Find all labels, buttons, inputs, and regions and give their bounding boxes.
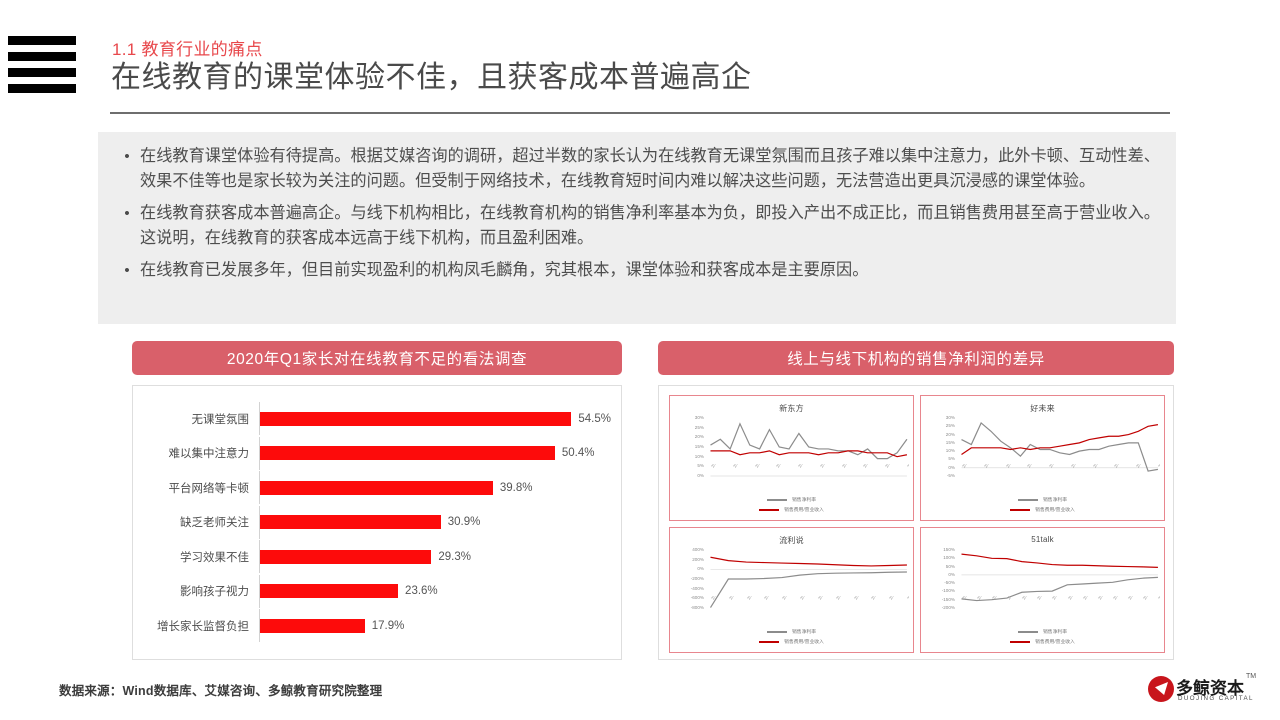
x-axis-tick-label: 2018-03-31 [1082,596,1096,600]
bar-value-label: 29.3% [438,551,471,563]
x-axis-tick-label: 2014-11-30 [710,464,724,468]
legend-item: 销售费用/营业收入 [1010,506,1075,513]
horizontal-bar-chart: 无课堂氛围54.5%难以集中注意力50.4%平台网络等卡顿39.8%缺乏老师关注… [133,386,621,659]
bullet-marker: • [114,201,140,251]
bar-value-label: 39.8% [500,482,533,494]
left-panel-title: 2020年Q1家长对在线教育不足的看法调查 [132,341,622,375]
bar-track: 23.6% [259,575,611,608]
bar-value-label: 30.9% [448,516,481,528]
x-axis-tick-label: 2015-11-30 [1005,464,1019,468]
bar-row: 学习效果不佳29.3% [147,540,611,573]
mini-line-chart-4: 51talk150%100%50%0%-50%-100%-150%-200%20… [920,527,1165,653]
x-axis-tick-label: 2018-06-30 [817,596,831,600]
x-axis-tick-label: 2019-05-31 [906,464,909,468]
bar-row: 平台网络等卡顿39.8% [147,471,611,504]
x-axis-labels: 2014-11-302015-05-312015-11-302016-05-31… [710,464,909,498]
legend-line-icon [1018,631,1038,633]
x-axis-tick-label: 2017-12-31 [1067,596,1081,600]
mini-chart-title: 51talk [921,535,1164,544]
chart-legend: 销售净利率销售费用/营业收入 [670,496,913,513]
mini-line-chart-1: 新东方30%25%20%15%10%5%0%2014-11-302015-05-… [669,395,914,521]
bar-track: 50.4% [259,437,611,470]
x-axis-labels: 2014-11-302015-05-312015-11-302016-05-31… [961,464,1160,498]
trademark-icon: TM [1246,673,1256,680]
line-series [711,451,907,457]
x-axis-tick-label: 2016-03-31 [961,596,975,600]
x-axis-tick-label: 2018-06-30 [1097,596,1111,600]
x-axis-tick-label: 2019-05-31 [1157,464,1160,468]
x-axis-tick-label: 2017-06-30 [746,596,760,600]
slide-header: 1.1 教育行业的痛点 在线教育的课堂体验不佳，且获客成本普遍高企 [0,0,1280,120]
x-axis-tick-label: 2016-05-31 [1026,464,1040,468]
bullet-item: • 在线教育已发展多年，但目前实现盈利的机构凤毛麟角，究其根本，课堂体验和获客成… [114,258,1160,283]
x-axis-tick-label: 2018-03-31 [799,596,813,600]
bar-category-label: 影响孩子视力 [147,583,259,599]
x-axis-tick-label: 2017-06-30 [1036,596,1050,600]
x-axis-tick-label: 2019-06-30 [1157,596,1160,600]
deco-bar [8,52,76,61]
bar-rows: 无课堂氛围54.5%难以集中注意力50.4%平台网络等卡顿39.8%缺乏老师关注… [147,402,611,647]
x-axis-tick-label: 2019-06-30 [888,596,902,600]
x-axis-tick-label: 2017-09-30 [1051,596,1065,600]
deco-bar [8,36,76,45]
legend-item: 销售费用/营业收入 [759,638,824,645]
line-series [962,425,1158,455]
x-axis-tick-label: 2015-11-30 [754,464,768,468]
bar-track: 39.8% [259,471,611,504]
legend-label: 销售净利率 [1043,628,1067,635]
x-axis-tick-label: 2015-05-31 [983,464,997,468]
x-axis-tick-label: 2018-09-30 [835,596,849,600]
x-axis-tick-label: 2015-05-31 [732,464,746,468]
bar-fill [260,481,493,495]
x-axis-tick-label: 2017-11-30 [1092,464,1106,468]
legend-item: 销售净利率 [1018,496,1067,503]
legend-line-icon [759,509,779,511]
legend-label: 销售费用/营业收入 [1035,506,1075,513]
whale-mark-icon [1148,676,1174,702]
bar-row: 难以集中注意力50.4% [147,437,611,470]
x-axis-tick-label: 2017-09-30 [763,596,777,600]
chart-legend: 销售净利率销售费用/营业收入 [921,496,1164,513]
bar-fill [260,584,398,598]
legend-line-icon [759,641,779,643]
bar-category-label: 平台网络等卡顿 [147,480,259,496]
bullet-item: • 在线教育课堂体验有待提高。根据艾媒咨询的调研，超过半数的家长认为在线教育无课… [114,144,1160,194]
legend-line-icon [767,499,787,501]
bar-row: 增长家长监督负担17.9% [147,609,611,642]
line-series [711,557,907,566]
bar-fill [260,412,571,426]
x-axis-tick-label: 2017-11-30 [841,464,855,468]
mini-chart-grid: 新东方30%25%20%15%10%5%0%2014-11-302015-05-… [669,395,1165,653]
legend-line-icon [1010,509,1030,511]
summary-text-block: • 在线教育课堂体验有待提高。根据艾媒咨询的调研，超过半数的家长认为在线教育无课… [98,132,1176,324]
x-axis-labels: 2016-03-312016-06-302016-09-302016-12-31… [961,596,1160,630]
legend-item: 销售费用/营业收入 [1010,638,1075,645]
header-divider [110,112,1170,114]
bar-category-label: 增长家长监督负担 [147,618,259,634]
bar-category-label: 学习效果不佳 [147,549,259,565]
x-axis-tick-label: 2017-03-31 [728,596,742,600]
legend-label: 销售费用/营业收入 [784,638,824,645]
bar-track: 29.3% [259,540,611,573]
bar-track: 54.5% [259,402,611,435]
bar-fill [260,446,555,460]
x-axis-tick-label: 2018-12-31 [1127,596,1141,600]
bar-fill [260,619,365,633]
bar-value-label: 50.4% [562,447,595,459]
x-axis-tick-label: 2018-05-31 [1113,464,1127,468]
legend-item: 销售净利率 [767,628,816,635]
legend-item: 销售净利率 [767,496,816,503]
bar-track: 30.9% [259,506,611,539]
x-axis-tick-label: 2016-11-30 [797,464,811,468]
mini-chart-title: 好未来 [921,403,1164,414]
x-axis-tick-label: 2018-11-30 [884,464,898,468]
x-axis-tick-label: 2018-11-30 [1135,464,1149,468]
x-axis-tick-label: 2017-05-31 [819,464,833,468]
bullet-marker: • [114,144,140,194]
data-source-note: 数据来源：Wind数据库、艾媒咨询、多鲸教育研究院整理 [59,680,382,699]
net-profit-comparison-card: 新东方30%25%20%15%10%5%0%2014-11-302015-05-… [658,385,1174,660]
x-axis-tick-label: 2016-12-31 [1006,596,1020,600]
line-series [962,554,1158,567]
x-axis-tick-label: 2017-05-31 [1070,464,1084,468]
x-axis-tick-label: 2019-03-31 [870,596,884,600]
mini-chart-title: 新东方 [670,403,913,414]
x-axis-tick-label: 2019-09-30 [906,596,909,600]
chart-legend: 销售净利率销售费用/营业收入 [921,628,1164,645]
legend-label: 销售费用/营业收入 [1035,638,1075,645]
x-axis-tick-label: 2019-03-31 [1142,596,1156,600]
bar-value-label: 54.5% [578,413,611,425]
deco-bar [8,84,76,93]
x-axis-tick-label: 2018-12-31 [853,596,867,600]
x-axis-tick-label: 2016-05-31 [775,464,789,468]
bullet-item: • 在线教育获客成本普遍高企。与线下机构相比，在线教育机构的销售净利率基本为负，… [114,201,1160,251]
company-logo: 多鲸资本 TM DUOJING CAPITAL [1148,674,1268,710]
right-panel-title: 线上与线下机构的销售净利润的差异 [658,341,1174,375]
mini-line-chart-3: 流利说400%200%0%-200%-400%-600%-800%2016-12… [669,527,914,653]
bullet-text: 在线教育课堂体验有待提高。根据艾媒咨询的调研，超过半数的家长认为在线教育无课堂氛… [140,144,1160,194]
x-axis-tick-label: 2016-06-30 [976,596,990,600]
mini-chart-title: 流利说 [670,535,913,546]
bar-category-label: 无课堂氛围 [147,411,259,427]
legend-label: 销售净利率 [1043,496,1067,503]
x-axis-tick-label: 2018-09-30 [1112,596,1126,600]
deco-bar [8,68,76,77]
four-bars-icon [8,36,76,100]
bar-fill [260,550,431,564]
bar-row: 无课堂氛围54.5% [147,402,611,435]
bar-category-label: 难以集中注意力 [147,445,259,461]
bar-category-label: 缺乏老师关注 [147,514,259,530]
survey-bar-chart-card: 无课堂氛围54.5%难以集中注意力50.4%平台网络等卡顿39.8%缺乏老师关注… [132,385,622,660]
bar-track: 17.9% [259,609,611,642]
bar-fill [260,515,441,529]
x-axis-tick-label: 2017-12-31 [781,596,795,600]
legend-label: 销售费用/营业收入 [784,506,824,513]
bar-row: 缺乏老师关注30.9% [147,506,611,539]
chart-legend: 销售净利率销售费用/营业收入 [670,628,913,645]
x-axis-labels: 2016-12-312017-03-312017-06-302017-09-30… [710,596,909,630]
x-axis-tick-label: 2017-03-31 [1021,596,1035,600]
legend-line-icon [1018,499,1038,501]
legend-line-icon [1010,641,1030,643]
legend-line-icon [767,631,787,633]
legend-label: 销售净利率 [792,628,816,635]
x-axis-tick-label: 2016-11-30 [1048,464,1062,468]
page-title: 在线教育的课堂体验不佳，且获客成本普遍高企 [111,52,752,96]
x-axis-tick-label: 2018-05-31 [862,464,876,468]
mini-line-chart-2: 好未来30%25%20%15%10%5%0%-5%2014-11-302015-… [920,395,1165,521]
bar-value-label: 17.9% [372,620,405,632]
legend-label: 销售净利率 [792,496,816,503]
bullet-marker: • [114,258,140,283]
x-axis-tick-label: 2016-09-30 [991,596,1005,600]
bar-row: 影响孩子视力23.6% [147,575,611,608]
logo-name-en: DUOJING CAPITAL [1178,695,1254,702]
legend-item: 销售费用/营业收入 [759,506,824,513]
legend-item: 销售净利率 [1018,628,1067,635]
bullet-text: 在线教育已发展多年，但目前实现盈利的机构凤毛麟角，究其根本，课堂体验和获客成本是… [140,258,1160,283]
x-axis-tick-label: 2014-11-30 [961,464,975,468]
x-axis-tick-label: 2016-12-31 [710,596,724,600]
bullet-text: 在线教育获客成本普遍高企。与线下机构相比，在线教育机构的销售净利率基本为负，即投… [140,201,1160,251]
bar-value-label: 23.6% [405,585,438,597]
